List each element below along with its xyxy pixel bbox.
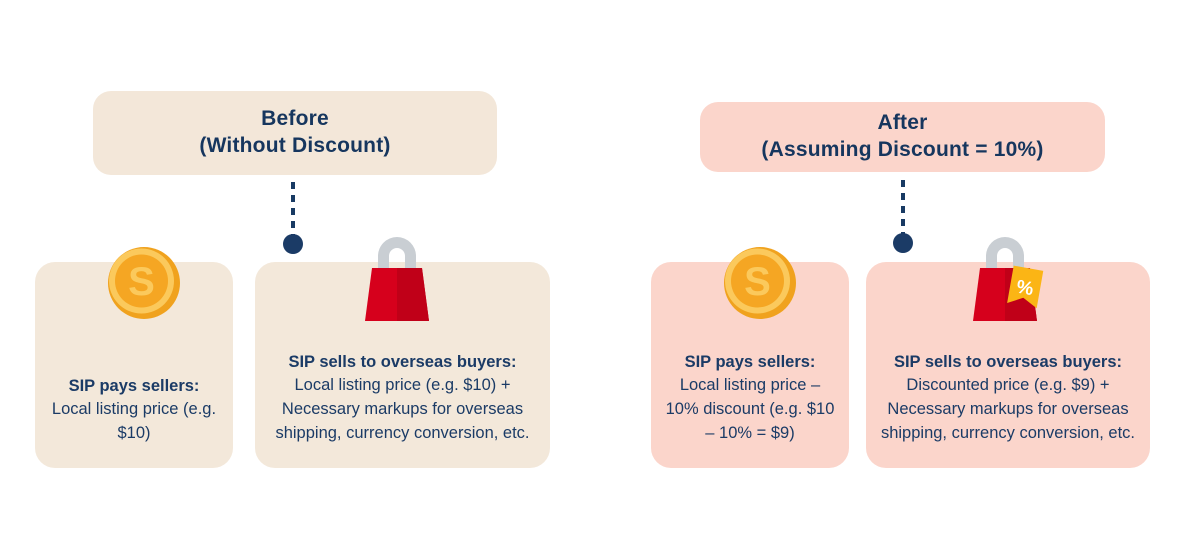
- infographic-canvas: Before (Without Discount) SIP pays selle…: [0, 0, 1200, 542]
- svg-text:S: S: [128, 260, 155, 304]
- card-title: SIP pays sellers:: [69, 375, 200, 397]
- header-pill-after: After (Assuming Discount = 10%): [700, 102, 1105, 172]
- red-shopping-bag-icon: [358, 232, 436, 329]
- connector-before: [281, 182, 305, 254]
- card-body: Discounted price (e.g. $9) + Necessary m…: [878, 374, 1138, 446]
- connector-dot-icon: [283, 234, 303, 254]
- card-title: SIP sells to overseas buyers:: [894, 351, 1122, 373]
- card-body: Local listing price (e.g. $10) + Necessa…: [267, 374, 538, 446]
- gold-coin-s-icon: S: [723, 246, 797, 325]
- connector-after: [891, 180, 915, 253]
- svg-text:S: S: [744, 260, 771, 304]
- connector-dot-icon: [893, 233, 913, 253]
- header-before-line1: Before: [261, 106, 329, 133]
- header-before-line2: (Without Discount): [199, 133, 390, 160]
- dashed-line-icon: [901, 180, 905, 234]
- dashed-line-icon: [291, 182, 295, 235]
- gold-coin-s-icon: S: [107, 246, 181, 325]
- card-body: Local listing price (e.g. $10): [47, 398, 221, 446]
- card-body: Local listing price – 10% discount (e.g.…: [663, 374, 837, 446]
- header-pill-before: Before (Without Discount): [93, 91, 497, 175]
- card-title: SIP pays sellers:: [685, 351, 816, 373]
- header-after-line2: (Assuming Discount = 10%): [761, 137, 1043, 164]
- red-shopping-bag-discount-tag-icon: %: [966, 230, 1058, 331]
- header-after-line1: After: [877, 110, 927, 137]
- card-title: SIP sells to overseas buyers:: [288, 351, 516, 373]
